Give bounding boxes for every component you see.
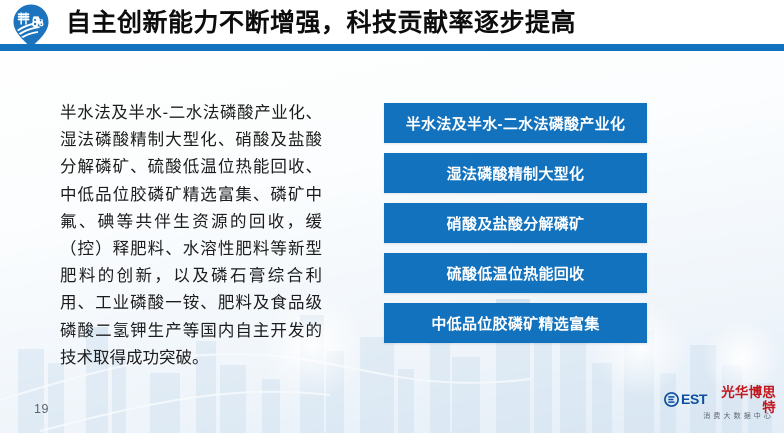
brand-logo-row: EST 光华博思特 <box>664 390 776 409</box>
brand-logo: EST 光华博思特 消费大数据中心 <box>664 390 776 424</box>
slide: 自主创新能力不断增强，科技贡献率逐步提高 半水法及半水-二水法磷酸产业化、湿法磷… <box>0 0 784 433</box>
highlight-box[interactable]: 硝酸及盐酸分解磷矿 <box>384 203 647 243</box>
brand-logo-subtitle: 消费大数据中心 <box>664 411 776 421</box>
best-circle-e-icon <box>664 392 679 407</box>
brand-logo-chinese: 光华博思特 <box>711 385 776 415</box>
highlight-box[interactable]: 湿法磷酸精制大型化 <box>384 153 647 193</box>
highlight-box[interactable]: 中低品位胶磷矿精选富集 <box>384 303 647 343</box>
highlight-box[interactable]: 半水法及半水-二水法磷酸产业化 <box>384 103 647 143</box>
slide-header: 自主创新能力不断增强，科技贡献率逐步提高 <box>0 0 784 48</box>
page-title: 自主创新能力不断增强，科技贡献率逐步提高 <box>66 6 576 40</box>
farm-field-map-pin-icon <box>8 3 54 49</box>
body-paragraph: 半水法及半水-二水法磷酸产业化、湿法磷酸精制大型化、硝酸及盐酸分解磷矿、硫酸低温… <box>60 100 322 372</box>
page-number: 19 <box>34 402 49 416</box>
highlight-box-list: 半水法及半水-二水法磷酸产业化 湿法磷酸精制大型化 硝酸及盐酸分解磷矿 硫酸低温… <box>384 103 647 343</box>
highlight-box[interactable]: 硫酸低温位热能回收 <box>384 253 647 293</box>
header-accent-bar <box>0 44 784 51</box>
brand-logo-latin: EST <box>681 392 707 407</box>
